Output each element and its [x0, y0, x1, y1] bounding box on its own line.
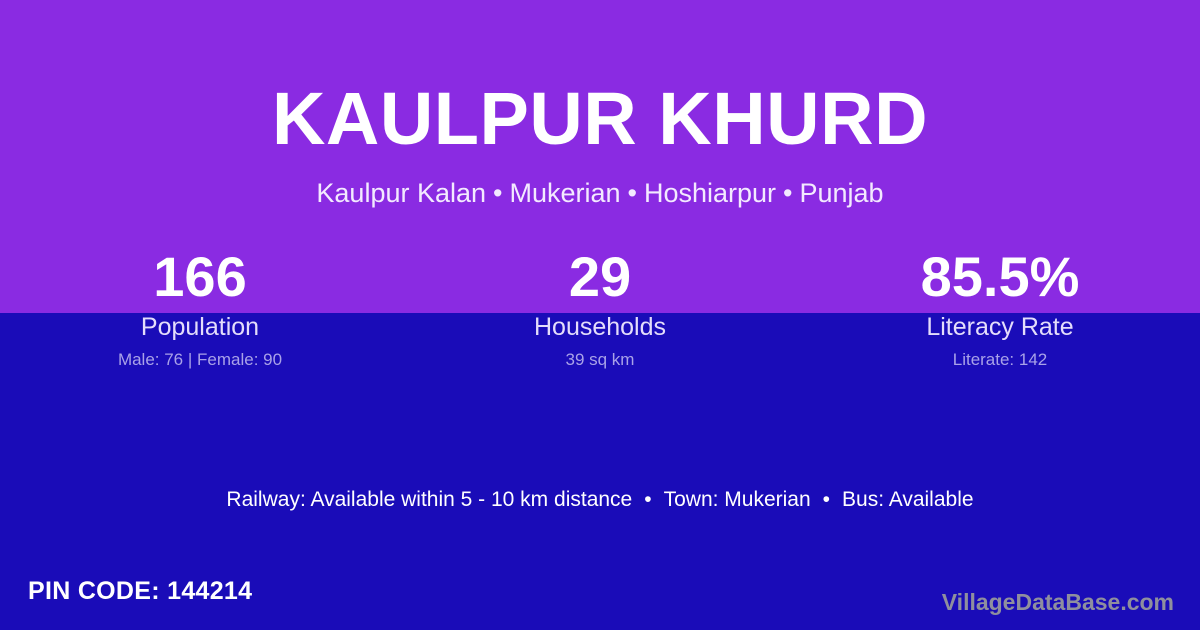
stats-row: 166 Population Male: 76 | Female: 90 29 …: [0, 246, 1200, 369]
amenity-railway: Railway: Available within 5 - 10 km dist…: [226, 488, 632, 511]
breadcrumb-item-district: Hoshiarpur: [644, 178, 776, 208]
stat-sub-population: Male: 76 | Female: 90: [0, 350, 400, 369]
stat-value-population: 166: [0, 246, 400, 308]
stat-value-households: 29: [400, 246, 800, 308]
breadcrumb-separator: •: [486, 178, 509, 208]
stat-value-literacy-rate: 85.5%: [800, 246, 1200, 308]
village-info-card: KAULPUR KHURD Kaulpur Kalan•Mukerian•Hos…: [0, 0, 1200, 630]
stat-literacy-rate: 85.5% Literacy Rate Literate: 142: [800, 246, 1200, 369]
breadcrumb: Kaulpur Kalan•Mukerian•Hoshiarpur•Punjab: [0, 180, 1200, 207]
breadcrumb-item-state: Punjab: [800, 178, 884, 208]
amenity-bus: Bus: Available: [842, 488, 974, 511]
breadcrumb-item-gram-panchayat: Kaulpur Kalan: [316, 178, 486, 208]
stat-label-population: Population: [0, 313, 400, 341]
stat-sub-literacy-rate: Literate: 142: [800, 350, 1200, 369]
breadcrumb-separator: •: [776, 178, 799, 208]
stat-label-literacy-rate: Literacy Rate: [800, 313, 1200, 341]
site-brand: VillageDataBase.com: [942, 588, 1174, 616]
pin-code: PIN CODE: 144214: [28, 576, 252, 606]
amenity-separator: •: [811, 488, 842, 511]
stat-sub-households: 39 sq km: [400, 350, 800, 369]
breadcrumb-item-block: Mukerian: [509, 178, 620, 208]
amenity-separator: •: [632, 488, 663, 511]
stat-households: 29 Households 39 sq km: [400, 246, 800, 369]
breadcrumb-separator: •: [621, 178, 644, 208]
stat-label-households: Households: [400, 313, 800, 341]
stat-population: 166 Population Male: 76 | Female: 90: [0, 246, 400, 369]
page-title: KAULPUR KHURD: [0, 82, 1200, 156]
amenity-town: Town: Mukerian: [664, 488, 811, 511]
amenities-line: Railway: Available within 5 - 10 km dist…: [0, 487, 1200, 513]
